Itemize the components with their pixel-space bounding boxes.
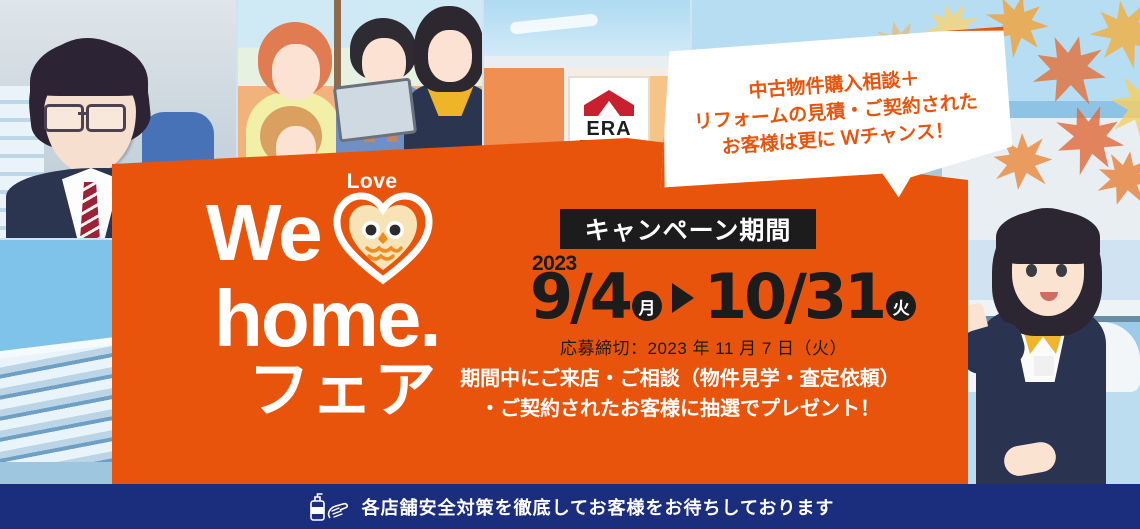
heart-owl-icon: Love [331, 184, 435, 288]
date-row: 9/4 月 10/31 火 [530, 268, 916, 325]
staff-fringe [996, 210, 1100, 264]
hand-sanitizer-icon [306, 492, 350, 522]
man-glasses-right [86, 104, 126, 132]
tablet-device [333, 77, 417, 142]
logo-home-text: home. [214, 282, 496, 356]
owl-in-heart-svg [331, 184, 435, 288]
promo-description: 期間中にご来店・ご相談（物件見学・査定依頼） ・ご契約されたお客様に抽選でプレゼ… [420, 364, 940, 424]
campaign-banner: ERA JAPAN [0, 0, 1140, 529]
staff-lapel-badge [1034, 356, 1054, 376]
campaign-period-badge: キャンペーン期間 [560, 209, 816, 249]
application-deadline: 応募締切：2023 年 11 月 7 日（火） [560, 334, 847, 359]
window-frame [334, 0, 341, 90]
campaign-end-dow: 火 [886, 291, 916, 321]
promo-line-1: 期間中にご来店・ご相談（物件見学・査定依頼） [420, 364, 940, 394]
staff-eye-left [1026, 264, 1037, 277]
man-glasses-bridge [78, 112, 88, 115]
range-arrow-icon [672, 283, 694, 313]
safety-notice-text: 各店舗安全対策を徹底してお客様をお待ちしております [362, 494, 835, 520]
campaign-end-date: 10/31 [704, 268, 884, 325]
campaign-start-dow: 月 [632, 291, 662, 321]
safety-notice-bar: 各店舗安全対策を徹底してお客様をお待ちしております [0, 484, 1140, 529]
promo-line-2: ・ご契約されたお客様に抽選でプレゼント！ [420, 394, 940, 424]
maple-leaf-icon [1085, 0, 1140, 75]
house-roof-icon [584, 90, 634, 116]
staff-eye-right [1056, 264, 1067, 277]
logo-love-text: Love [347, 170, 398, 194]
logo-first-row: We Love [206, 178, 496, 288]
man-fringe [30, 40, 148, 96]
staff-face [428, 30, 472, 82]
campaign-start-date: 9/4 [530, 268, 630, 325]
logo-we-text: We [206, 196, 321, 270]
era-brand-text: ERA [570, 118, 648, 141]
mother-face [272, 44, 320, 100]
man-glasses-left [44, 104, 84, 132]
campaign-date-range: 2023 9/4 月 10/31 火 [530, 252, 930, 328]
